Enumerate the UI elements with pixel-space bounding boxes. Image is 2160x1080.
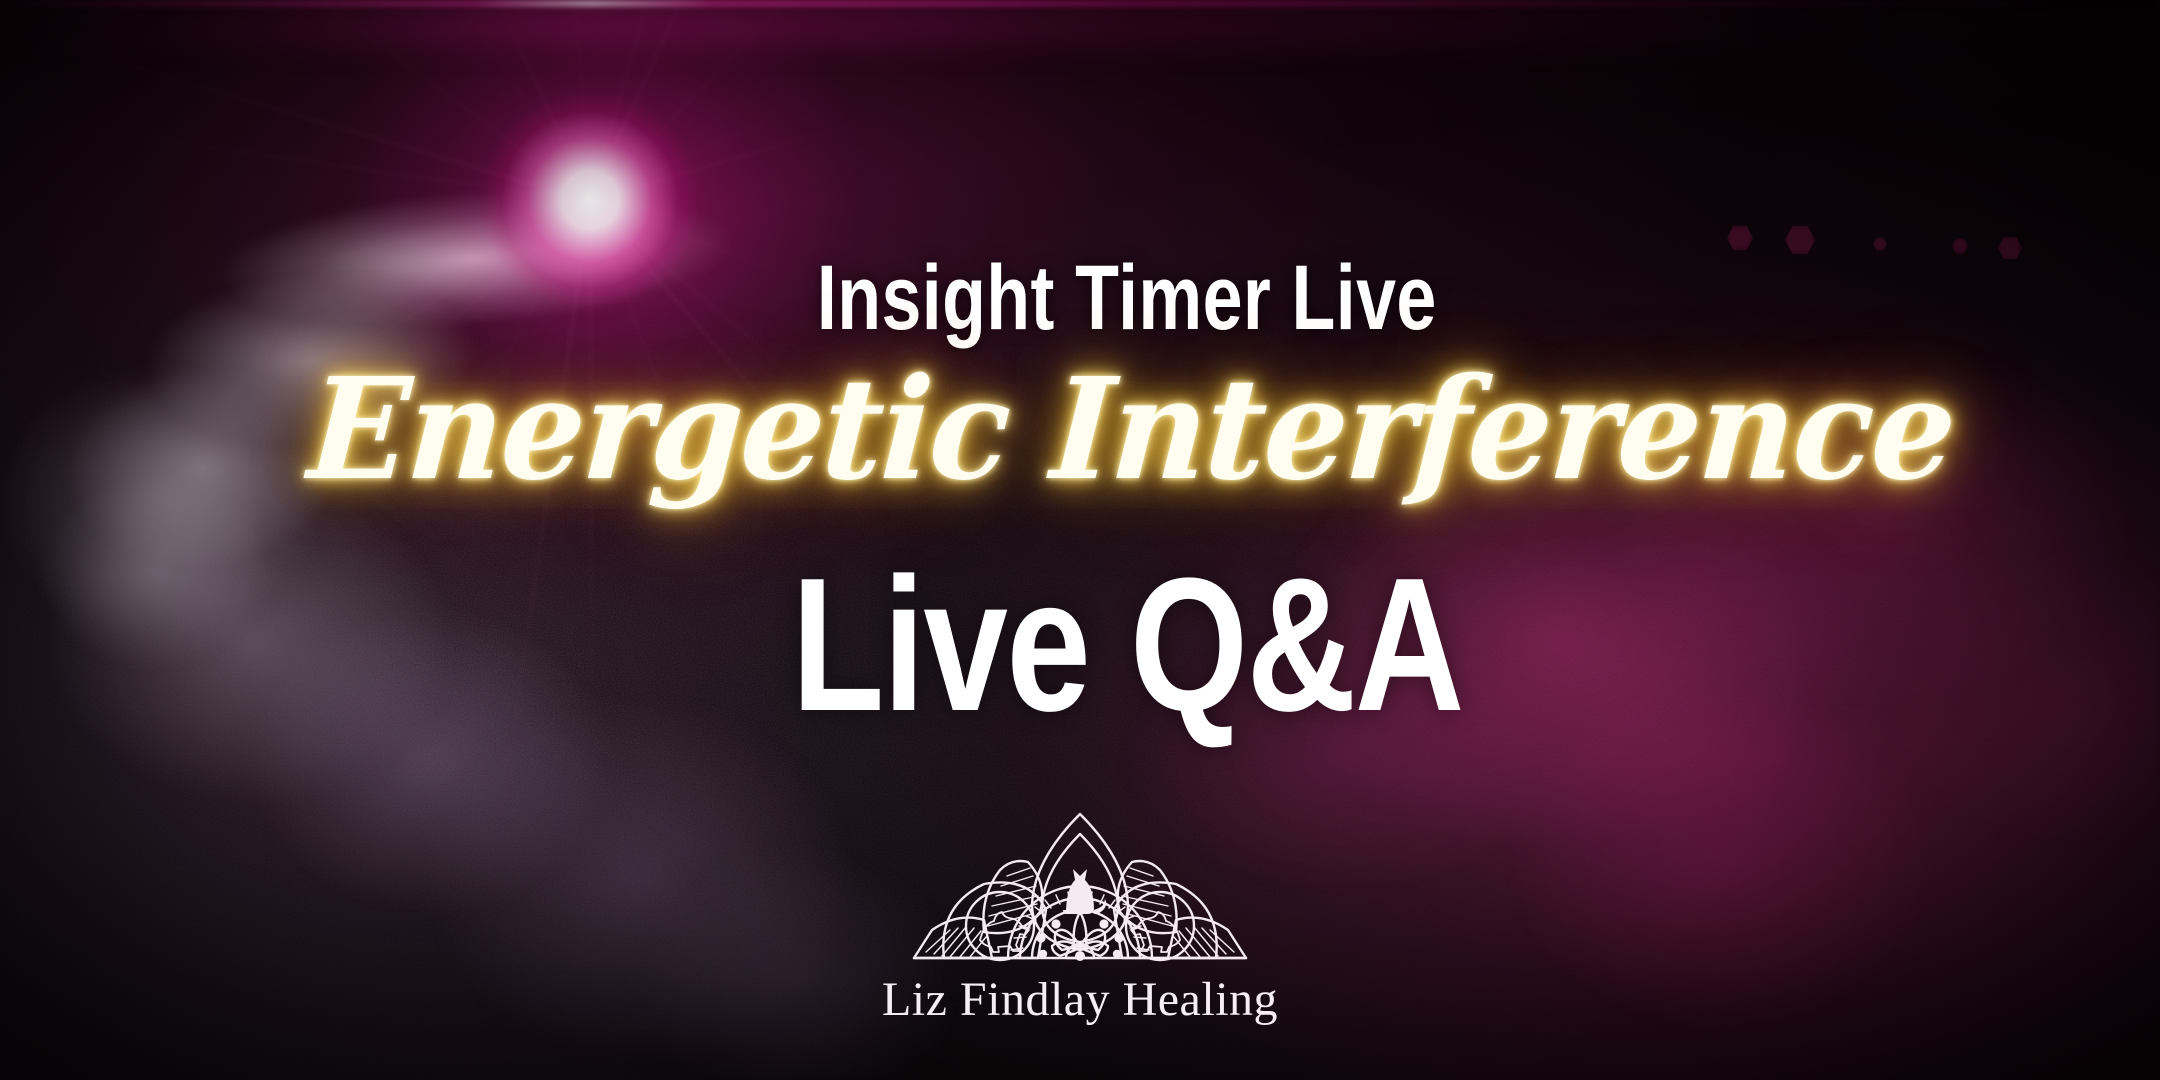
banner-content: Insight Timer Live Energetic Interferenc… xyxy=(0,0,2160,1080)
event-subhead: Live Q&A xyxy=(216,550,1944,740)
brand-name: Liz Findlay Healing xyxy=(880,976,1280,1024)
event-banner: Insight Timer Live Energetic Interferenc… xyxy=(0,0,2160,1080)
event-kicker: Insight Timer Live xyxy=(238,252,1923,344)
brand-logo: Liz Findlay Healing xyxy=(880,800,1280,1024)
lotus-mandala-icon xyxy=(880,800,1280,970)
event-headline: Energetic Interference xyxy=(60,360,2100,500)
